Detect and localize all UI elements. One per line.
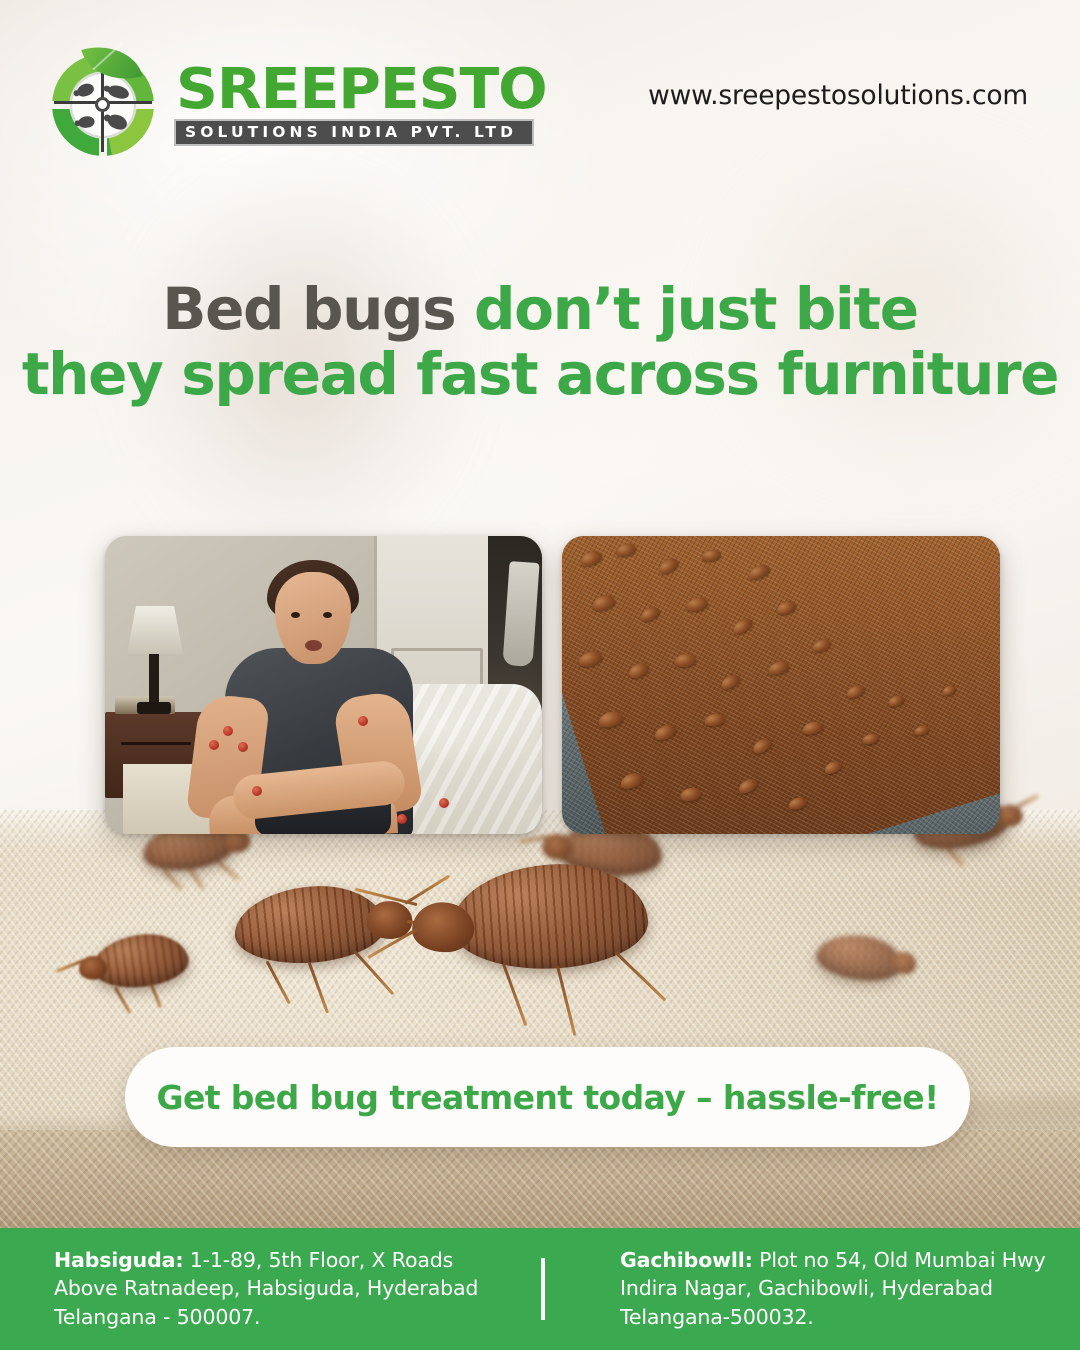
brand-name: SREEPESTO — [176, 62, 547, 118]
headline-part-gray: Bed bugs — [162, 275, 474, 343]
lamp-shade — [127, 606, 183, 654]
website-url[interactable]: www.sreepestosolutions.com — [648, 80, 1028, 111]
footer-divider — [541, 1258, 545, 1320]
bite-mark — [439, 798, 449, 808]
header: SREEPESTO SOLUTIONS INDIA PVT. LTD www.s… — [0, 0, 1080, 175]
brand-logo[interactable]: SREEPESTO SOLUTIONS INDIA PVT. LTD — [44, 42, 532, 160]
address-line-2: Above Ratnadeep, Habsiguda, Hyderabad — [54, 1276, 478, 1300]
brand-tagline: SOLUTIONS INDIA PVT. LTD — [176, 121, 532, 145]
bite-mark — [209, 740, 219, 750]
headline-line-2: they spread fast across furniture — [0, 345, 1080, 404]
address-label: Gachibowll: — [620, 1248, 753, 1272]
address-habsiguda: Habsiguda: 1-1-89, 5th Floor, X Roads Ab… — [54, 1246, 504, 1331]
address-gachibowli: Gachibowll: Plot no 54, Old Mumbai Hwy I… — [620, 1246, 1060, 1331]
address-line-3: Telangana-500032. — [620, 1305, 814, 1329]
photo-gallery — [105, 536, 1000, 834]
cta-label: Get bed bug treatment today – hassle-fre… — [156, 1078, 938, 1117]
poster-canvas: SREEPESTO SOLUTIONS INDIA PVT. LTD www.s… — [0, 0, 1080, 1350]
photo-man-with-bed-bug-bites — [105, 536, 542, 834]
headline-part-green: don’t just bite — [474, 275, 918, 343]
bite-mark — [223, 726, 233, 736]
man-mouth — [305, 640, 322, 651]
brown-weave-texture — [562, 536, 1000, 834]
bite-mark — [252, 786, 262, 796]
address-line-3: Telangana - 500007. — [54, 1305, 260, 1329]
pest-target-leaf-icon — [44, 42, 162, 160]
brown-fabric-flap — [562, 536, 1000, 834]
lamp-foot — [137, 702, 171, 714]
headline: Bed bugs don’t just bite they spread fas… — [0, 280, 1080, 404]
photo-bed-bug-infested-upholstery — [562, 536, 1000, 834]
bite-mark — [238, 742, 248, 752]
address-line-2: Indira Nagar, Gachibowli, Hyderabad — [620, 1276, 993, 1300]
bite-mark — [397, 814, 407, 824]
address-label: Habsiguda: — [54, 1248, 183, 1272]
cta-button[interactable]: Get bed bug treatment today – hassle-fre… — [125, 1047, 970, 1147]
man-eye-left — [291, 612, 300, 618]
man-eye-right — [323, 612, 332, 618]
crosshair-center-icon — [95, 97, 110, 112]
address-line-1: 1-1-89, 5th Floor, X Roads — [183, 1248, 453, 1272]
brand-wordmark: SREEPESTO SOLUTIONS INDIA PVT. LTD — [176, 58, 532, 145]
headline-line-1: Bed bugs don’t just bite — [0, 280, 1080, 339]
background-mattress-scene — [0, 810, 1080, 1240]
address-line-1: Plot no 54, Old Mumbai Hwy — [753, 1248, 1046, 1272]
bite-mark — [358, 716, 368, 726]
